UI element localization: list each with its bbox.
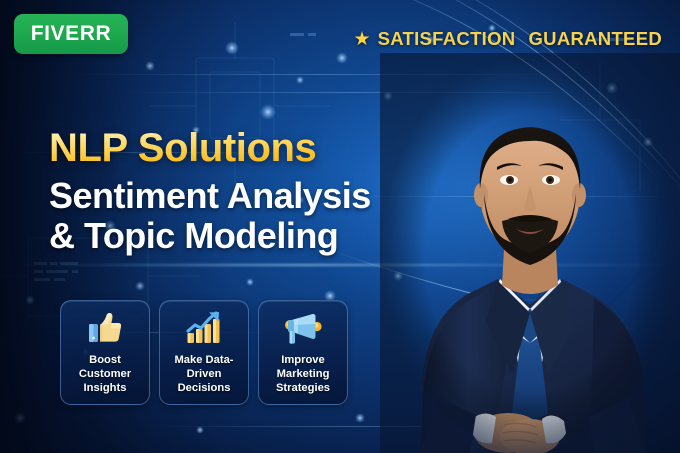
fiverr-logo-text: FIVERR <box>31 22 112 46</box>
card-label-line: Boost <box>79 353 131 367</box>
feature-cards: Boost Customer Insights <box>60 300 348 405</box>
feature-card-boost-customer-insights[interactable]: Boost Customer Insights <box>60 300 150 405</box>
card-label-line: Customer <box>79 367 131 381</box>
card-label-line: Marketing <box>276 367 330 381</box>
headline-block: NLP Solutions Sentiment Analysis & Topic… <box>49 128 371 256</box>
fiverr-logo-badge[interactable]: FIVERR <box>14 14 128 54</box>
card-label-line: Improve <box>276 353 330 367</box>
fiverr-gig-banner: FIVERR ★ SATISFACTION GUARANTEED NLP Sol… <box>0 0 680 453</box>
headline-white-line-2: & Topic Modeling <box>49 216 371 256</box>
star-icon: ★ <box>354 30 371 49</box>
megaphone-icon <box>283 310 323 346</box>
card-label-line: Insights <box>79 381 131 395</box>
feature-card-improve-marketing-strategies[interactable]: Improve Marketing Strategies <box>258 300 348 405</box>
card-label-line: Make Data- <box>174 353 233 367</box>
card-label-line: Decisions <box>174 381 233 395</box>
bar-chart-growth-icon <box>185 310 223 346</box>
card-label-line: Strategies <box>276 381 330 395</box>
feature-card-make-data-driven-decisions[interactable]: Make Data- Driven Decisions <box>159 300 249 405</box>
guarantee-text-emphasis: GUARANTEED <box>528 28 662 50</box>
thumbs-up-icon <box>87 310 123 346</box>
headline-gold-line: NLP Solutions <box>49 128 371 170</box>
card-label-line: Driven <box>174 367 233 381</box>
feature-card-label: Make Data- Driven Decisions <box>171 353 236 395</box>
guarantee-text-primary: SATISFACTION <box>378 28 516 50</box>
headline-white-line-1: Sentiment Analysis <box>49 176 371 216</box>
feature-card-label: Improve Marketing Strategies <box>273 353 333 395</box>
satisfaction-guarantee-badge: ★ SATISFACTION GUARANTEED <box>354 28 662 50</box>
feature-card-label: Boost Customer Insights <box>76 353 134 395</box>
headline-white-block: Sentiment Analysis & Topic Modeling <box>49 176 371 257</box>
